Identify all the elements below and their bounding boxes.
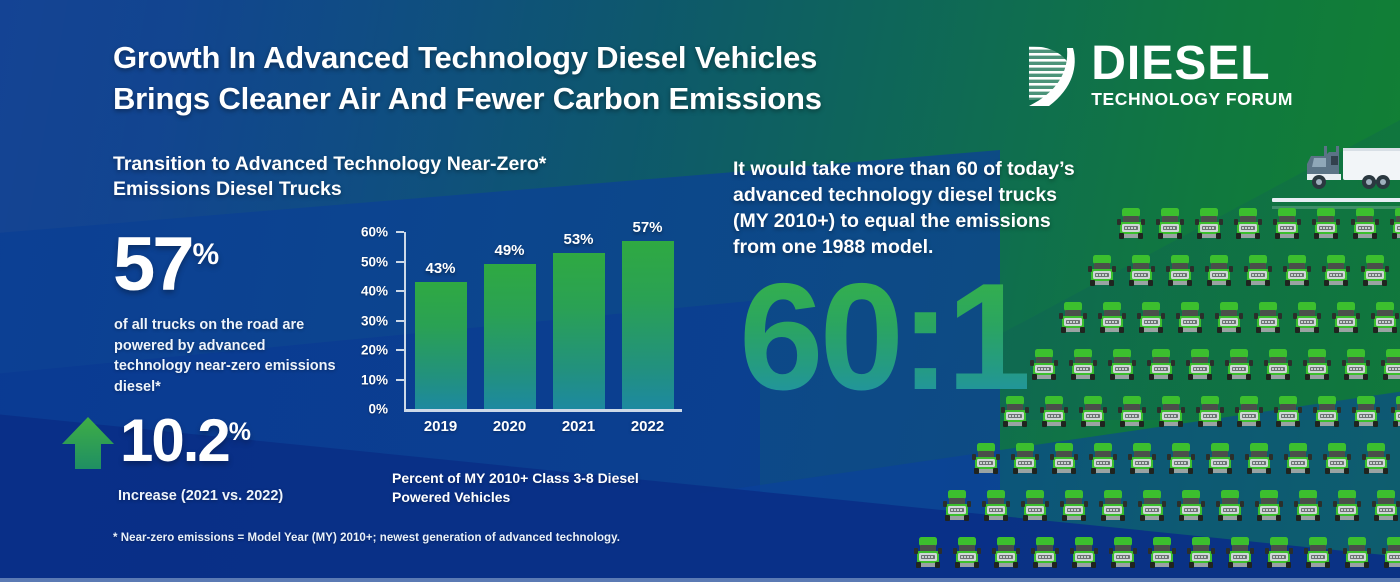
semi-truck-front-icon: [1214, 488, 1246, 524]
chart-caption: Percent of MY 2010+ Class 3-8 Diesel Pow…: [392, 469, 692, 507]
semi-truck-front-icon: [1281, 253, 1313, 289]
chart-bar-group: 53%: [553, 232, 605, 409]
chart-bar: [553, 253, 605, 409]
truck-fleet-row: [1115, 206, 1400, 242]
chart-caption-line-1: Percent of MY 2010+ Class 3-8 Diesel: [392, 469, 692, 488]
chart-bar-value-label: 53%: [553, 231, 605, 248]
bar-chart: 60%50%40%30%20%10%0% 43%201949%202053%20…: [352, 232, 682, 432]
semi-truck-front-icon: [1380, 535, 1400, 571]
growth-statistic-caption: Increase (2021 vs. 2022): [118, 488, 283, 504]
left-panel-subhead: Transition to Advanced Technology Near-Z…: [113, 152, 703, 203]
semi-truck-front-icon: [1370, 488, 1400, 524]
chart-bar-value-label: 57%: [622, 219, 674, 236]
left-subhead-line-2: Emissions Diesel Trucks: [113, 177, 703, 202]
chart-caption-line-2: Powered Vehicles: [392, 488, 692, 507]
semi-truck-front-icon: [980, 488, 1012, 524]
semi-truck-front-icon: [1194, 394, 1226, 430]
semi-truck-front-icon: [1271, 206, 1303, 242]
semi-truck-front-icon: [1164, 253, 1196, 289]
truck-fleet-grid: [940, 206, 1400, 582]
semi-truck-front-icon: [1302, 535, 1334, 571]
semi-truck-front-icon: [1057, 300, 1089, 336]
semi-truck-front-icon: [1340, 347, 1372, 383]
chart-y-tick-label: 20%: [361, 343, 388, 358]
semi-truck-front-icon: [1330, 300, 1362, 336]
bottom-divider: [0, 578, 1400, 582]
truck-fleet-row: [970, 441, 1400, 477]
diesel-road-swoosh-icon: [1023, 42, 1083, 110]
semi-truck-front-icon: [1223, 347, 1255, 383]
semi-truck-front-icon: [1349, 206, 1381, 242]
semi-truck-front-icon: [1193, 206, 1225, 242]
semi-truck-front-icon: [1204, 441, 1236, 477]
semi-truck-front-icon: [1125, 253, 1157, 289]
semi-truck-front-icon: [951, 535, 983, 571]
semi-truck-front-icon: [1263, 535, 1295, 571]
semi-truck-front-icon: [1067, 347, 1099, 383]
semi-truck-front-icon: [1165, 441, 1197, 477]
semi-truck-front-icon: [941, 488, 973, 524]
semi-truck-front-icon: [1311, 394, 1343, 430]
semi-truck-front-icon: [1136, 488, 1168, 524]
road-line: [1272, 198, 1400, 202]
chart-y-tick-label: 50%: [361, 254, 388, 269]
semi-truck-front-icon: [1331, 488, 1363, 524]
semi-truck-front-icon: [1155, 394, 1187, 430]
truck-fleet-row: [912, 535, 1400, 571]
semi-truck-front-icon: [1310, 206, 1342, 242]
semi-truck-front-icon: [1116, 394, 1148, 430]
semi-truck-front-icon: [1388, 206, 1400, 242]
growth-statistic-value: 10.2%: [120, 414, 251, 468]
semi-truck-front-icon: [1135, 300, 1167, 336]
semi-truck-front-icon: [1301, 347, 1333, 383]
semi-truck-front-icon: [999, 394, 1031, 430]
right-headline-line-1: It would take more than 60 of today’s: [733, 157, 1203, 183]
chart-x-tick-label: 2022: [622, 418, 674, 435]
semi-truck-front-icon: [1028, 347, 1060, 383]
logo-wordmark: DIESEL TECHNOLOGY FORUM: [1091, 42, 1293, 110]
page-title: Growth In Advanced Technology Diesel Veh…: [113, 38, 1013, 120]
infographic-canvas: Growth In Advanced Technology Diesel Veh…: [0, 0, 1400, 582]
semi-truck-front-icon: [1146, 535, 1178, 571]
semi-truck-front-icon: [1185, 535, 1217, 571]
semi-truck-front-icon: [1019, 488, 1051, 524]
semi-truck-front-icon: [1175, 488, 1207, 524]
chart-x-tick-label: 2020: [484, 418, 536, 435]
truck-fleet-row: [941, 488, 1400, 524]
semi-truck-front-icon: [1096, 300, 1128, 336]
chart-y-tick-label: 10%: [361, 372, 388, 387]
left-panel: Transition to Advanced Technology Near-Z…: [113, 152, 713, 203]
semi-truck-front-icon: [990, 535, 1022, 571]
semi-truck-front-icon: [1253, 488, 1285, 524]
headline-statistic-unit: %: [193, 238, 220, 271]
semi-truck-front-icon: [1213, 300, 1245, 336]
semi-truck-front-icon: [1087, 441, 1119, 477]
semi-truck-front-icon: [1369, 300, 1400, 336]
truck-fleet-row: [999, 394, 1400, 430]
semi-truck-front-icon: [1029, 535, 1061, 571]
headline-statistic: 57%: [113, 232, 219, 299]
semi-truck-front-icon: [1232, 206, 1264, 242]
truck-fleet-row: [1086, 253, 1400, 289]
chart-y-tick-mark: [396, 379, 404, 381]
semi-truck-front-icon: [1097, 488, 1129, 524]
chart-bar: [484, 264, 536, 409]
semi-truck-front-icon: [1184, 347, 1216, 383]
diesel-technology-forum-logo: DIESEL TECHNOLOGY FORUM: [1023, 42, 1293, 110]
growth-statistic: 10.2%: [60, 410, 251, 472]
semi-truck-front-icon: [1145, 347, 1177, 383]
chart-bar-group: 49%: [484, 232, 536, 409]
growth-statistic-unit: %: [229, 418, 251, 446]
semi-truck-front-icon: [1107, 535, 1139, 571]
header: Growth In Advanced Technology Diesel Veh…: [113, 38, 1293, 120]
semi-truck-front-icon: [1038, 394, 1070, 430]
page-title-line-2: Brings Cleaner Air And Fewer Carbon Emis…: [113, 79, 1013, 120]
semi-truck-front-icon: [1174, 300, 1206, 336]
semi-truck-side-icon: [1281, 140, 1400, 196]
chart-x-tick-label: 2021: [553, 418, 605, 435]
chart-y-tick-label: 0%: [368, 402, 388, 417]
chart-bar-value-label: 49%: [484, 242, 536, 259]
semi-truck-front-icon: [1379, 347, 1400, 383]
chart-bar-value-label: 43%: [415, 260, 467, 277]
truck-fleet-row: [1028, 347, 1400, 383]
chart-bar: [622, 241, 674, 409]
semi-truck-front-icon: [1086, 253, 1118, 289]
semi-truck-front-icon: [1224, 535, 1256, 571]
semi-truck-front-icon: [1360, 441, 1392, 477]
semi-truck-front-icon: [1077, 394, 1109, 430]
right-headline-line-2: advanced technology diesel trucks: [733, 183, 1203, 209]
chart-y-tick-label: 30%: [361, 313, 388, 328]
truck-fleet-row: [1057, 300, 1400, 336]
semi-truck-front-icon: [1243, 441, 1275, 477]
semi-truck-front-icon: [1203, 253, 1235, 289]
semi-truck-front-icon: [1252, 300, 1284, 336]
up-arrow-icon: [60, 414, 116, 472]
page-title-line-1: Growth In Advanced Technology Diesel Veh…: [113, 38, 1013, 79]
headline-statistic-value: 57%: [113, 232, 219, 299]
chart-y-tick-mark: [396, 349, 404, 351]
semi-truck-front-icon: [1341, 535, 1373, 571]
semi-truck-front-icon: [1292, 488, 1324, 524]
chart-y-tick-label: 40%: [361, 284, 388, 299]
chart-y-tick-mark: [396, 261, 404, 263]
semi-truck-front-icon: [1048, 441, 1080, 477]
headline-statistic-description: of all trucks on the road are powered by…: [114, 315, 344, 397]
semi-truck-front-icon: [1233, 394, 1265, 430]
chart-x-axis-line: [404, 409, 682, 412]
semi-truck-front-icon: [1154, 206, 1186, 242]
semi-truck-front-icon: [1068, 535, 1100, 571]
chart-y-axis: 60%50%40%30%20%10%0%: [352, 232, 396, 410]
semi-truck-front-icon: [912, 535, 944, 571]
semi-truck-front-icon: [1272, 394, 1304, 430]
semi-truck-front-icon: [1389, 394, 1400, 430]
semi-truck-front-icon: [1320, 253, 1352, 289]
semi-truck-front-icon: [1106, 347, 1138, 383]
chart-y-tick-mark: [396, 231, 404, 233]
semi-truck-front-icon: [1058, 488, 1090, 524]
chart-x-tick-label: 2019: [415, 418, 467, 435]
semi-truck-front-icon: [1126, 441, 1158, 477]
chart-bar-group: 57%: [622, 232, 674, 409]
logo-main-text: DIESEL: [1091, 42, 1293, 86]
semi-truck-front-icon: [1321, 441, 1353, 477]
semi-truck-front-icon: [1242, 253, 1274, 289]
semi-truck-front-icon: [1359, 253, 1391, 289]
semi-truck-front-icon: [970, 441, 1002, 477]
logo-sub-text: TECHNOLOGY FORUM: [1091, 89, 1293, 110]
footnote: * Near-zero emissions = Model Year (MY) …: [113, 532, 620, 544]
left-subhead-line-1: Transition to Advanced Technology Near-Z…: [113, 152, 703, 177]
semi-truck-front-icon: [1350, 394, 1382, 430]
chart-bar: [415, 282, 467, 409]
semi-truck-front-icon: [1291, 300, 1323, 336]
chart-y-tick-mark: [396, 290, 404, 292]
semi-truck-front-icon: [1262, 347, 1294, 383]
semi-truck-front-icon: [1009, 441, 1041, 477]
chart-plot-area: 43%201949%202053%202157%2022: [406, 232, 682, 409]
semi-truck-front-icon: [1115, 206, 1147, 242]
chart-y-tick-mark: [396, 320, 404, 322]
chart-bar-group: 43%: [415, 232, 467, 409]
chart-y-tick-label: 60%: [361, 225, 388, 240]
semi-truck-front-icon: [1282, 441, 1314, 477]
